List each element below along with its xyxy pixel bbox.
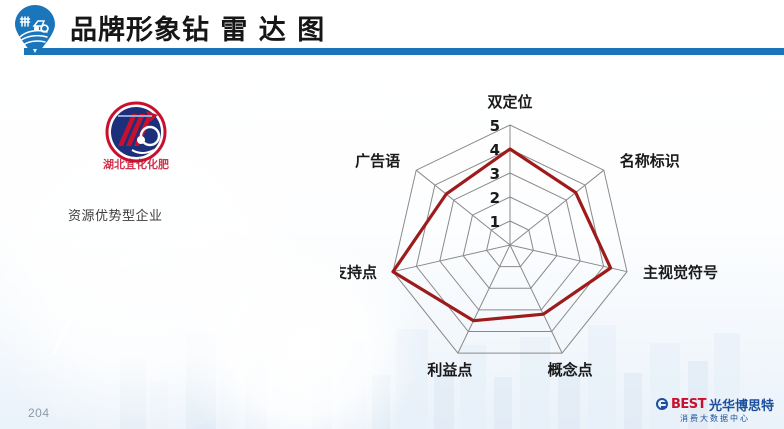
skyline-building: [494, 377, 512, 429]
radar-tick-label: 3: [490, 165, 500, 183]
radar-tick-label: 5: [490, 117, 500, 135]
radar-spoke: [510, 245, 562, 353]
radar-axis-label: 支持点: [340, 264, 377, 282]
radar-tick-label: 2: [490, 189, 500, 207]
svg-text:湖北宜化化肥: 湖北宜化化肥: [103, 157, 169, 171]
brand-caption: 资源优势型企业: [68, 205, 163, 224]
header-divider: [24, 48, 784, 55]
radar-series-polygon: [393, 149, 611, 321]
radar-axis-label: 利益点: [427, 361, 472, 379]
radar-axis-label: 名称标识: [620, 152, 680, 170]
skyline-building: [245, 351, 267, 429]
corp-subtitle: 消费大数据中心: [656, 413, 774, 424]
radar-axis-label: 主视觉符号: [643, 264, 718, 282]
skyline-building: [220, 369, 236, 429]
skyline-building: [272, 317, 306, 429]
corp-mark-text: BEST: [671, 397, 706, 412]
map-pin-agriculture-icon: [11, 4, 59, 56]
skyline-building: [186, 333, 216, 429]
best-b-roundel-icon: [656, 398, 668, 410]
radar-axis-label: 广告语: [355, 152, 400, 170]
radar-chart: 12345 双定位名称标识主视觉符号概念点利益点支持点广告语: [340, 82, 720, 382]
radar-axis-label: 双定位: [487, 93, 532, 111]
radar-tick-labels: 12345: [490, 117, 500, 231]
hubei-company-circular-logo: 湖北宜化化肥: [88, 100, 184, 172]
radar-tick-label: 1: [490, 213, 500, 231]
page-title: 品牌形象钻 雷 达 图: [70, 8, 325, 47]
corporate-logo-row: BEST 光华博思特: [656, 396, 774, 412]
skyline-building: [150, 381, 168, 429]
skyline-building: [312, 363, 332, 429]
page-number: 204: [28, 406, 50, 420]
radar-axis-labels: 双定位名称标识主视觉符号概念点利益点支持点广告语: [340, 93, 718, 379]
skyline-building: [372, 375, 390, 429]
radar-spoke: [458, 245, 510, 353]
skyline-building: [120, 359, 146, 429]
radar-axis-label: 概念点: [548, 361, 593, 379]
slide-root: 品牌形象钻 雷 达 图 湖北宜化化肥 资源优势型企业 12345 双定位名称标识…: [0, 0, 784, 429]
corp-name-cn: 光华博思特: [709, 395, 774, 414]
corporate-logo: BEST 光华博思特 消费大数据中心: [656, 396, 774, 424]
